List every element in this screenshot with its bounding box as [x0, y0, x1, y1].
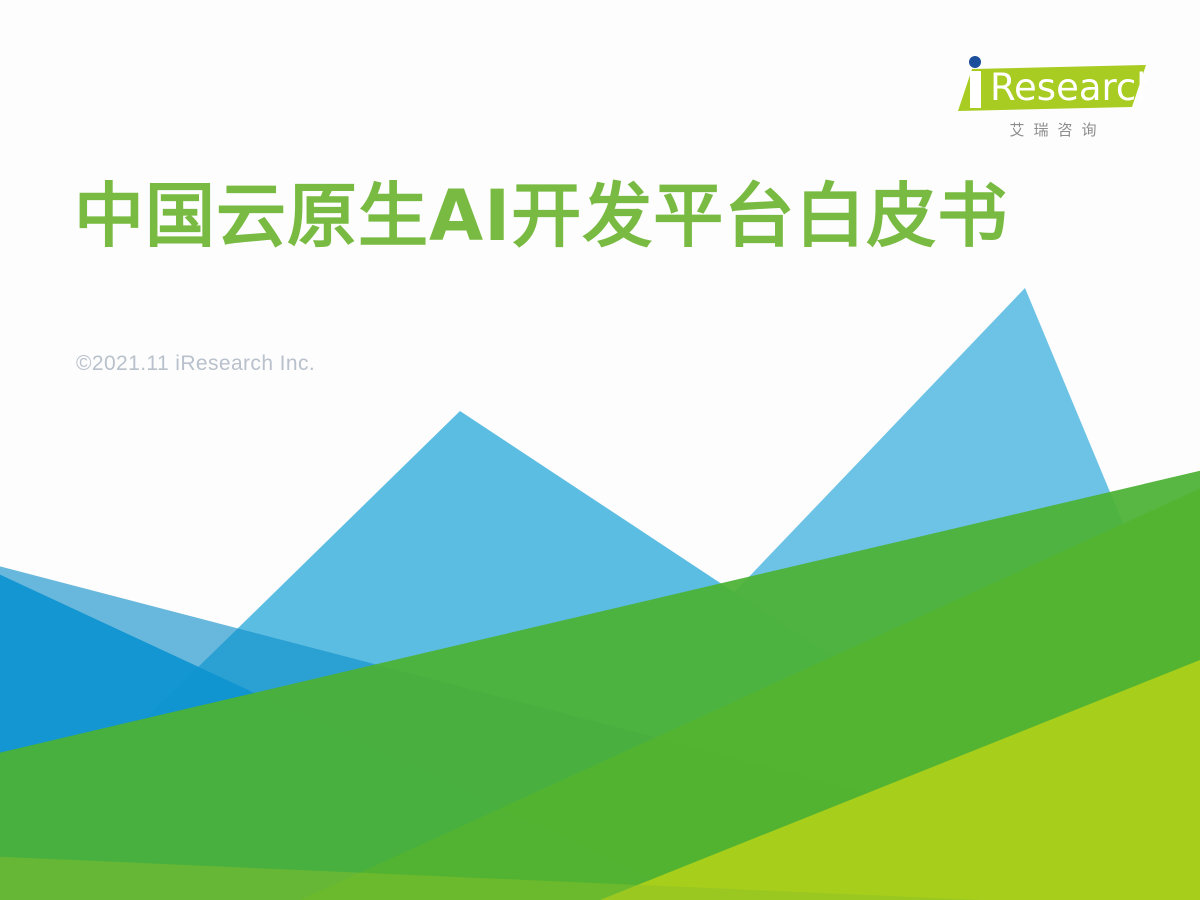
- logo-subtitle: 艾瑞咨询: [958, 119, 1148, 140]
- logo-mark: Research: [958, 55, 1148, 113]
- slide-canvas: Research 艾瑞咨询 中国云原生AI开发平台白皮书 ©2021.11 iR…: [0, 0, 1200, 900]
- page-title: 中国云原生AI开发平台白皮书: [74, 181, 1008, 251]
- logo-badge-icon: Research: [958, 55, 1148, 113]
- logo-i-dot-icon: [969, 56, 981, 68]
- copyright-notice: ©2021.11 iResearch Inc.: [76, 352, 315, 376]
- iresearch-logo: Research 艾瑞咨询: [958, 55, 1148, 147]
- logo-wordmark: Research: [990, 66, 1148, 109]
- logo-i-stem-icon: [970, 71, 981, 108]
